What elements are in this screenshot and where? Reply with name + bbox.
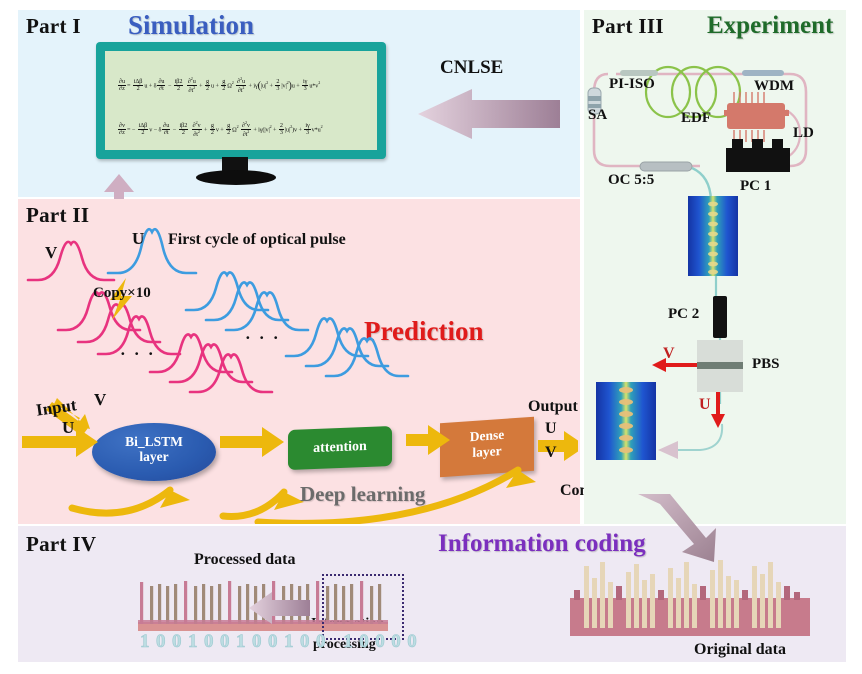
label-ld: LD [793, 125, 814, 142]
original-data-label: Original data [694, 641, 786, 659]
figure-canvas: Part I Simulation ∂u∂z= iΔβ2u + δ∂u∂t − … [0, 0, 862, 674]
label-wdm: WDM [754, 78, 794, 95]
part-4-tag: Part IV [26, 532, 96, 557]
label-oc: OC 5:5 [608, 172, 654, 189]
label-edf: EDF [681, 110, 711, 127]
information-processing-arrow [246, 591, 312, 625]
pbs-splitter-bar [697, 362, 743, 369]
label-pbs: PBS [752, 356, 780, 373]
original-data-bars [570, 556, 810, 636]
bit-string: 100100100100 10000 [140, 631, 423, 653]
label-pi-iso: PI-ISO [609, 76, 655, 93]
label-pc2: PC 2 [668, 306, 699, 323]
oc-coupler [640, 162, 692, 171]
label-pc1: PC 1 [740, 178, 771, 195]
experiment-to-coding-arrow [632, 492, 722, 568]
label-v-port: V [663, 345, 675, 363]
part-4-title: Information coding [438, 530, 646, 558]
pc2-block [713, 296, 727, 338]
processed-data-label: Processed data [194, 551, 295, 569]
pc1-block [726, 148, 790, 172]
comparison-spectrogram [596, 382, 656, 460]
label-sa: SA [588, 107, 607, 124]
experiment-spectrogram [688, 196, 738, 276]
wdm-pins [722, 92, 792, 144]
label-u-port: U [699, 396, 711, 414]
